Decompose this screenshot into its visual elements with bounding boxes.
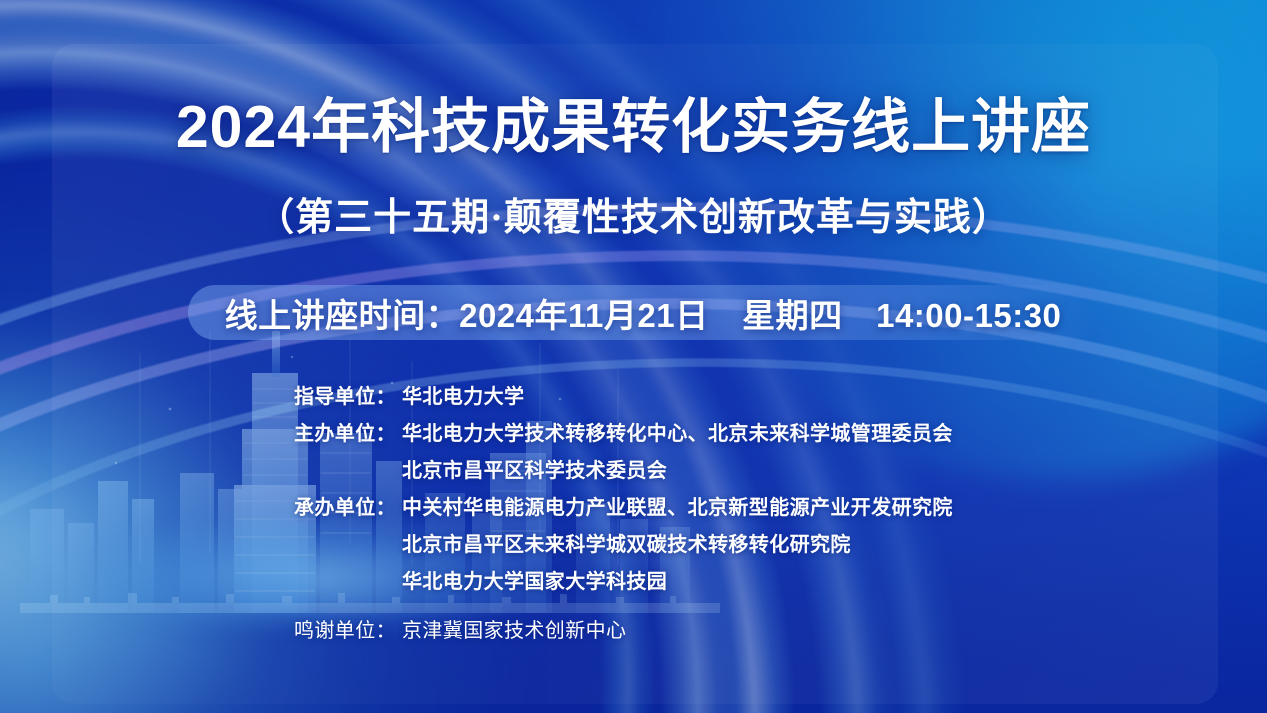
organization-value: 北京市昌平区未来科学城双碳技术转移转化研究院 <box>402 528 851 557</box>
organization-row: 华北电力大学国家大学科技园 <box>0 565 1267 602</box>
page-subtitle: （第三十五期·颠覆性技术创新改革与实践） <box>0 192 1267 244</box>
organization-label: 主办单位： <box>0 417 396 446</box>
time-banner-text: 线上讲座时间：2024年11月21日 星期四 14:00-15:30 <box>188 285 1098 340</box>
organization-row: 北京市昌平区科学技术委员会 <box>0 454 1267 491</box>
organization-row: 主办单位：华北电力大学技术转移转化中心、北京未来科学城管理委员会 <box>0 417 1267 454</box>
page-title: 2024年科技成果转化实务线上讲座 <box>0 90 1267 164</box>
organization-value: 华北电力大学国家大学科技园 <box>402 565 667 594</box>
organization-row: 北京市昌平区未来科学城双碳技术转移转化研究院 <box>0 528 1267 565</box>
organization-value: 北京市昌平区科学技术委员会 <box>402 454 667 483</box>
organization-label: 鸣谢单位： <box>0 614 396 643</box>
organization-value: 华北电力大学 <box>402 380 524 409</box>
organization-label: 指导单位： <box>0 380 396 409</box>
organization-row: 承办单位：中关村华电能源电力产业联盟、北京新型能源产业开发研究院 <box>0 491 1267 528</box>
poster-content: 2024年科技成果转化实务线上讲座 （第三十五期·颠覆性技术创新改革与实践） 线… <box>0 0 1267 713</box>
organization-row: 指导单位：华北电力大学 <box>0 380 1267 417</box>
organization-value: 中关村华电能源电力产业联盟、北京新型能源产业开发研究院 <box>402 491 953 520</box>
organization-value: 华北电力大学技术转移转化中心、北京未来科学城管理委员会 <box>402 417 953 446</box>
organization-value: 京津冀国家技术创新中心 <box>402 614 626 643</box>
organization-label: 承办单位： <box>0 491 396 520</box>
organization-row: 鸣谢单位：京津冀国家技术创新中心 <box>0 614 1267 651</box>
poster-canvas: 2024年科技成果转化实务线上讲座 （第三十五期·颠覆性技术创新改革与实践） 线… <box>0 0 1267 713</box>
organizations-list: 指导单位：华北电力大学主办单位：华北电力大学技术转移转化中心、北京未来科学城管理… <box>0 380 1267 651</box>
